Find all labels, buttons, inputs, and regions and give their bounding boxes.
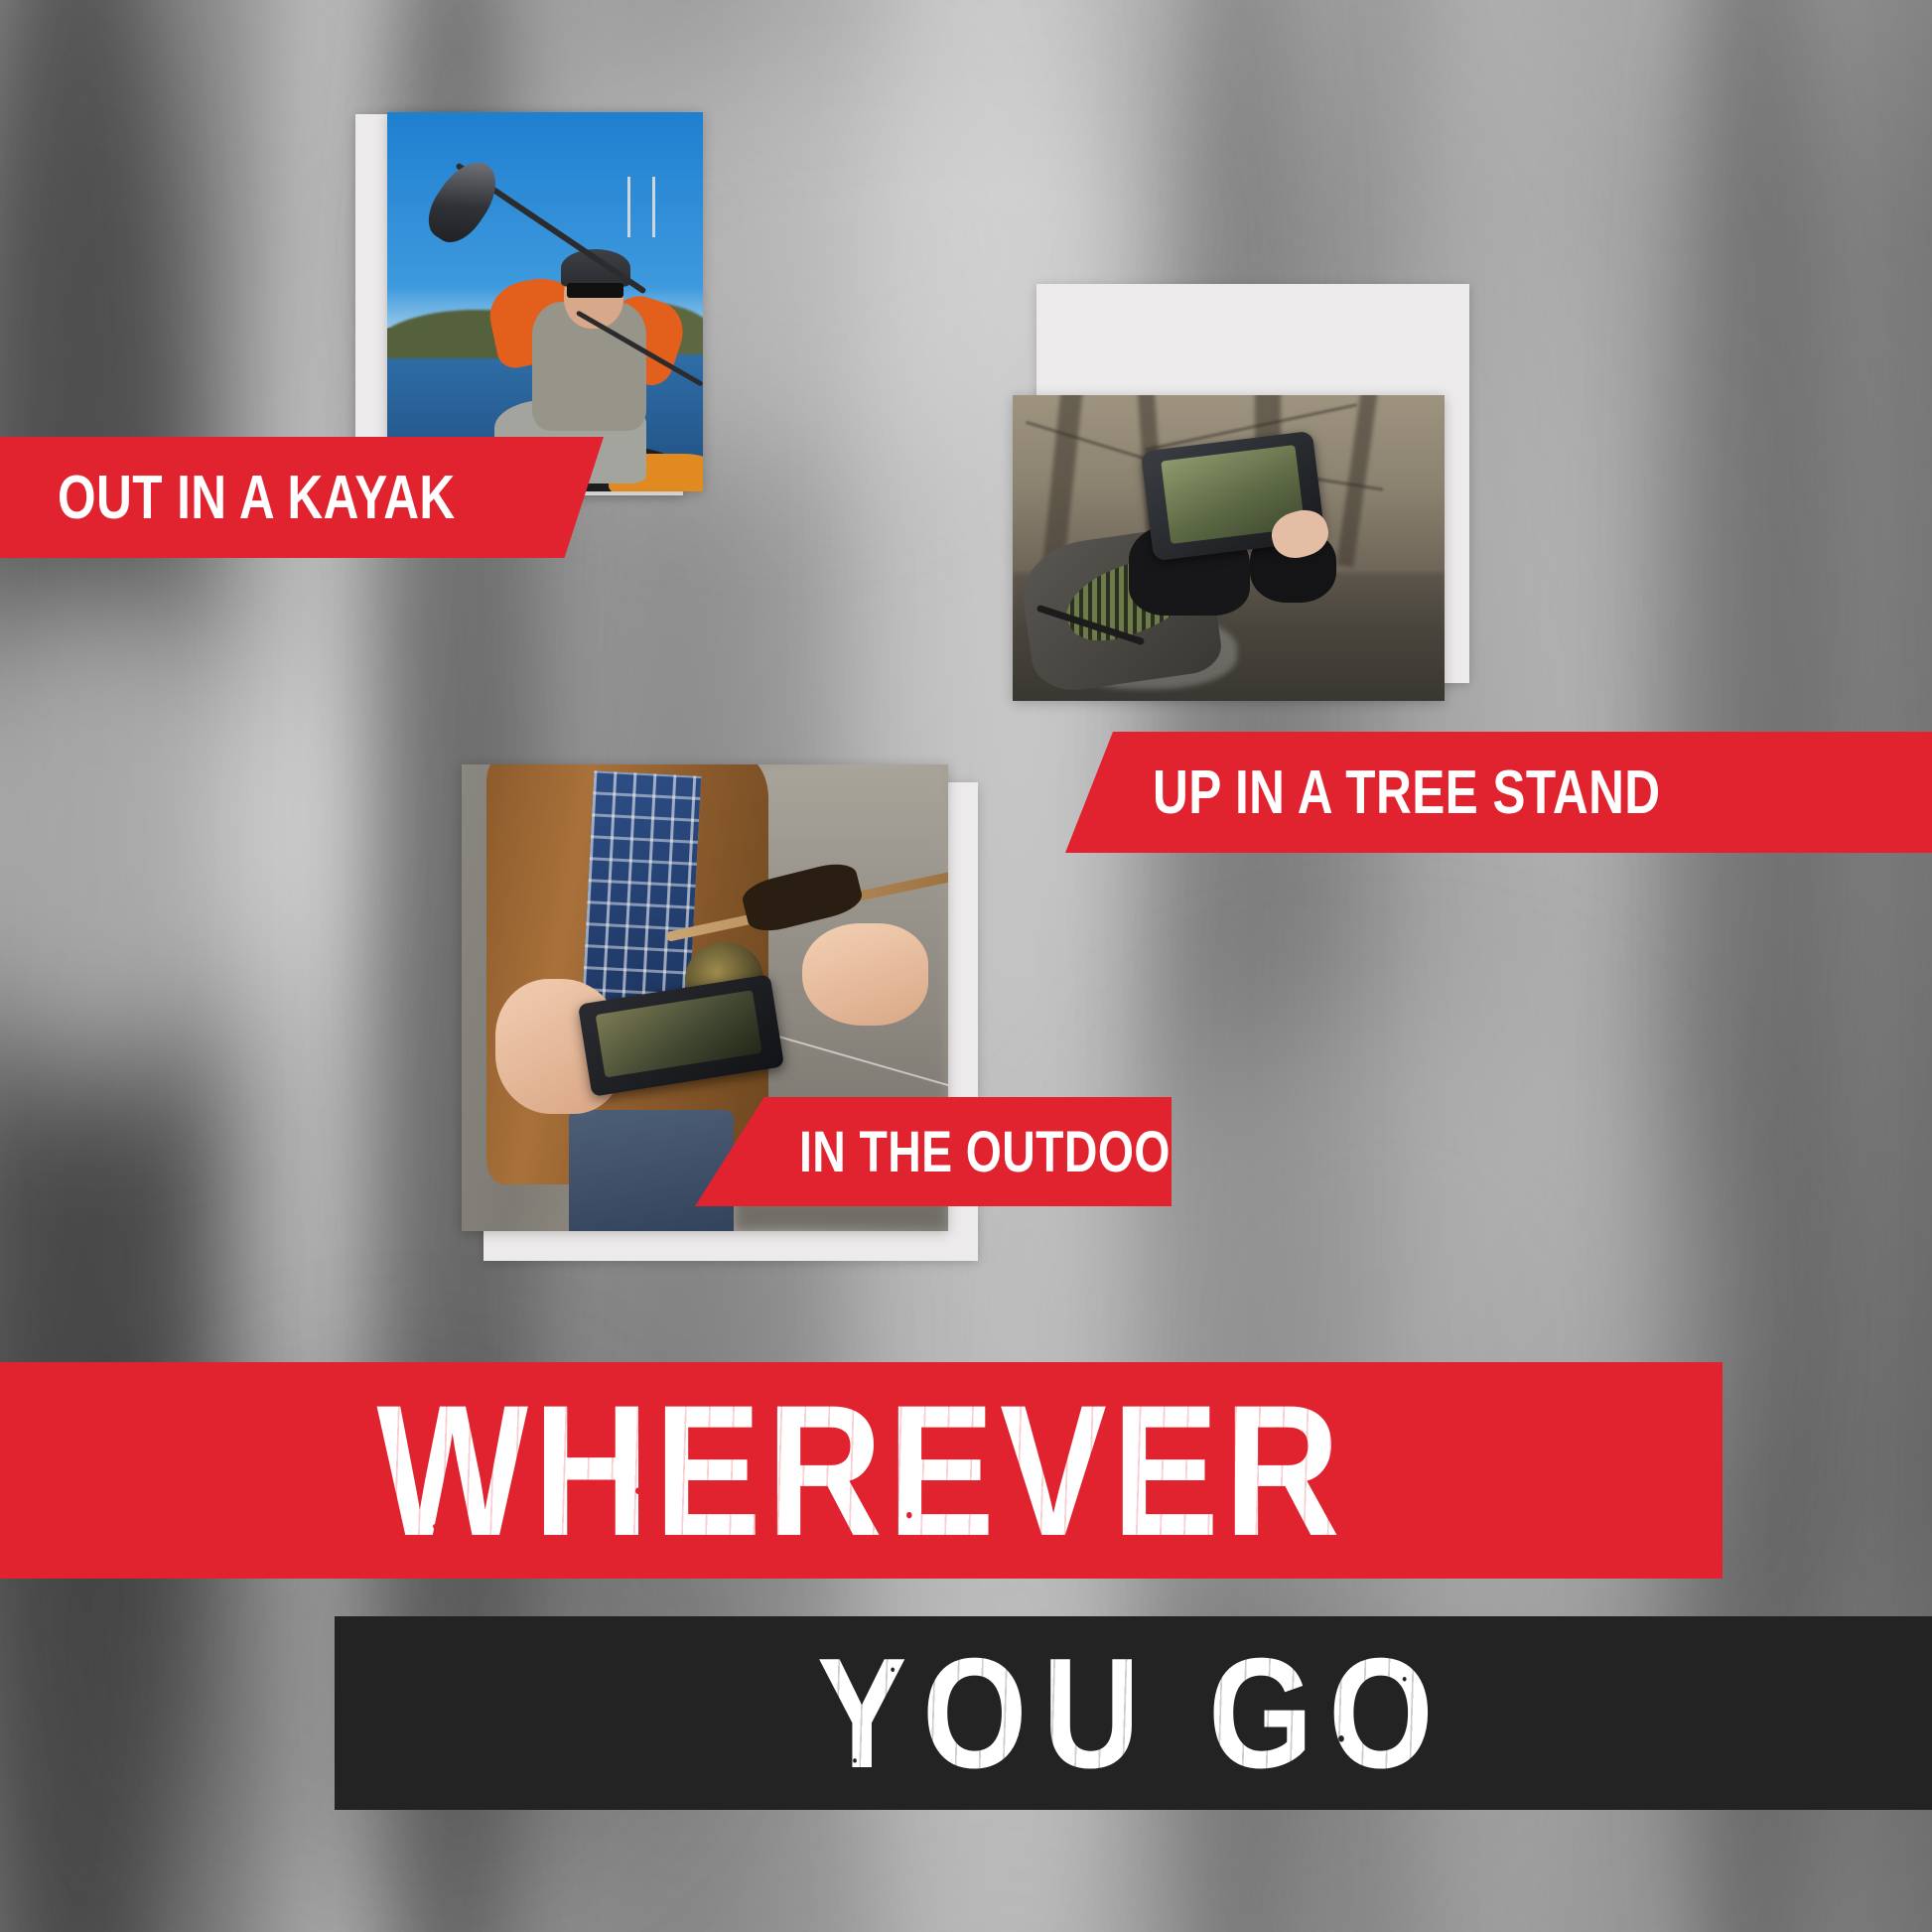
- kayak-antenna: [627, 177, 630, 237]
- headline-line-1: WHEREVER: [0, 1377, 1723, 1564]
- headline-bar-secondary: YOU GO: [335, 1616, 1932, 1810]
- headline-text-wherever: WHEREVER: [377, 1377, 1346, 1564]
- banner-label-outdoors: IN THE OUTDOORS: [799, 1119, 1235, 1185]
- headline-text-you-go: YOU GO: [817, 1635, 1449, 1792]
- banner-out-in-a-kayak: OUT IN A KAYAK: [0, 437, 604, 558]
- banner-label-treestand: UP IN A TREE STAND: [1153, 758, 1661, 828]
- kayak-antenna: [652, 177, 655, 237]
- photo-kayak: [387, 112, 703, 491]
- phone-screen: [595, 990, 762, 1077]
- jeans: [569, 1110, 735, 1231]
- photo-treestand: [1013, 395, 1445, 701]
- paddler-sunglasses: [567, 283, 623, 298]
- treestand-scene: [1013, 395, 1445, 701]
- banner-label-kayak: OUT IN A KAYAK: [58, 463, 456, 533]
- banner-up-in-a-tree-stand: UP IN A TREE STAND: [1065, 732, 1932, 853]
- plaid-shirt: [582, 771, 701, 1020]
- photo-card-treestand: [1013, 284, 1469, 701]
- banner-in-the-outdoors: IN THE OUTDOORS: [695, 1097, 1172, 1206]
- angler-hand-right: [802, 923, 928, 1026]
- kayak-scene: [387, 112, 703, 491]
- headline-bar-primary: WHEREVER: [0, 1362, 1723, 1579]
- kayak-paddle-blade: [418, 151, 508, 251]
- promo-graphic: OUT IN A KAYAK UP IN A TREE STAND IN THE…: [0, 0, 1932, 1932]
- headline-line-2: YOU GO: [335, 1635, 1932, 1792]
